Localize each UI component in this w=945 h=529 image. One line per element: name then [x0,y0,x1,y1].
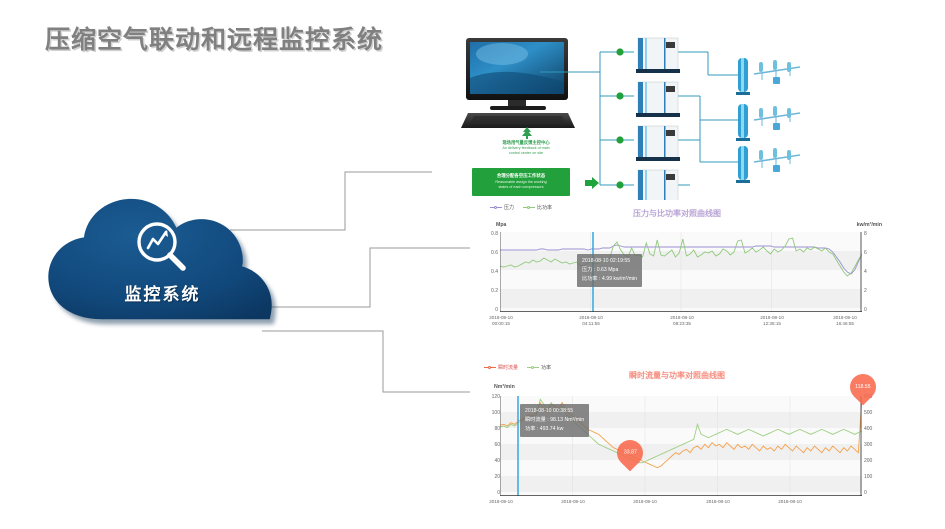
legend-label-flow: 瞬时流量 [498,364,518,371]
legend-marker-pressure [490,207,502,209]
flow-tooltip: 2018-08-10 00:38:55 瞬时流量 : 98.13 Nm³/min… [520,404,589,437]
flow-ytick-right: 500 [864,410,872,416]
xtick-time: 12:35:15 [747,321,797,327]
legend-marker-flow [484,367,496,369]
monitoring-cloud[interactable]: 监控系统 [40,196,285,331]
flow-xtick: 2018-08-10 [693,499,743,505]
pressure-chart-title: 压力与比功率对照曲线图 [577,208,777,219]
pressure-ytick: 0.2 [476,288,498,294]
pressure-xtick: 2018-08-10 08:23:35 [657,315,707,327]
pressure-xtick: 2018-08-10 04:11:55 [566,315,616,327]
flow-ytick: 20 [474,474,500,480]
xtick-time: 16:46:55 [820,321,870,327]
pressure-ytick-right: 0 [864,307,867,313]
legend-marker-power [527,367,539,369]
air-tank-group [736,58,800,95]
pressure-xtick: 2018-08-10 16:46:55 [820,315,870,327]
compressor-network [432,22,942,200]
network-nodes [616,48,623,188]
flow-chart-title: 瞬时流量与功率对照曲线图 [572,370,782,381]
pressure-ytick-right: 6 [864,250,867,256]
xtick-time: 04:11:55 [566,321,616,327]
pressure-y-unit-right: kw/m³/min [857,222,882,228]
legend-item-flow[interactable]: 瞬时流量 [484,364,518,371]
flow-ytick: 80 [474,426,500,432]
flow-tooltip-row1: 瞬时流量 : 98.13 Nm³/min [525,416,584,425]
legend-label-specific-power: 比功率 [537,204,552,211]
flow-xtick: 2018-08-10 [476,499,526,505]
pressure-tooltip-row1: 压力 : 0.63 Mpa [582,266,637,275]
pressure-xtick: 2018-08-10 12:35:15 [747,315,797,327]
cloud-label: 监控系统 [40,280,285,305]
flow-ytick-right: 200 [864,458,872,464]
flow-ytick: 40 [474,458,500,464]
pressure-ytick-right: 2 [864,288,867,294]
flow-xtick: 2018-08-10 [620,499,670,505]
pressure-chart-panel: 压力 比功率 压力与比功率对照曲线图 Mpa kw/m³/min 0.8 0.6… [472,202,882,334]
legend-label-pressure: 压力 [504,204,514,211]
flow-ytick-right: 100 [864,474,872,480]
flow-y-unit: Nm³/min [494,384,515,390]
system-diagram-panel: 现场用气量反馈主控中心 Air delivery feedback of mai… [432,22,942,200]
compressor-unit [636,126,680,161]
slide-canvas: 压缩空气联动和远程监控系统 监控系统 [0,0,945,529]
flow-marker-min-label: 33.87 [624,450,637,456]
pressure-y-unit: Mpa [496,222,506,228]
pressure-chart-legend[interactable]: 压力 比功率 [490,204,552,211]
compressor-unit [636,170,680,200]
pressure-ytick-right: 8 [864,231,867,237]
legend-item-power[interactable]: 功率 [527,364,551,371]
flow-tooltip-row2: 功率 : 493.74 kw [525,425,584,434]
legend-item-pressure[interactable]: 压力 [490,204,514,211]
flow-ytick: 100 [474,410,500,416]
legend-label-power: 功率 [541,364,551,371]
flow-marker-max-label: 118.55 [855,384,870,390]
pressure-plot-area[interactable] [500,232,862,312]
magnifier-chart-icon [132,218,192,276]
pressure-ytick-right: 4 [864,269,867,275]
flow-xtick: 2018-08-10 [765,499,815,505]
pressure-tooltip-row2: 比功率 : 4.99 kw/m³/min [582,275,637,284]
legend-marker-specific-power [523,207,535,209]
compressor-unit [636,38,680,73]
pressure-xtick: 2018-08-10 00:00:15 [476,315,526,327]
flow-ytick: 60 [474,442,500,448]
flow-chart-legend[interactable]: 瞬时流量 功率 [484,364,551,371]
flow-chart-panel: 瞬时流量 功率 瞬时流量与功率对照曲线图 Nm³/min 120 100 80 … [472,362,882,522]
pressure-tooltip-timestamp: 2018-08-10 02:19:55 [582,257,637,266]
pressure-ytick: 0.8 [476,231,498,237]
flow-tooltip-timestamp: 2018-08-10 00:38:55 [525,407,584,416]
legend-item-specific-power[interactable]: 比功率 [523,204,552,211]
air-tank-group [736,104,800,141]
xtick-time: 08:23:35 [657,321,707,327]
flow-xtick: 2018-08-10 [548,499,598,505]
flow-ytick: 0 [474,490,500,496]
pressure-ytick: 0.4 [476,269,498,275]
pressure-tooltip: 2018-08-10 02:19:55 压力 : 0.63 Mpa 比功率 : … [577,254,642,287]
pressure-ytick: 0.6 [476,250,498,256]
pressure-ytick: 0 [476,307,498,313]
compressor-unit [636,82,680,117]
xtick-time: 00:00:15 [476,321,526,327]
flow-ytick-right: 0 [864,490,867,496]
air-tank-group [736,146,800,183]
flow-ytick-right: 300 [864,442,872,448]
flow-ytick: 120 [474,394,500,400]
flow-ytick-right: 400 [864,426,872,432]
